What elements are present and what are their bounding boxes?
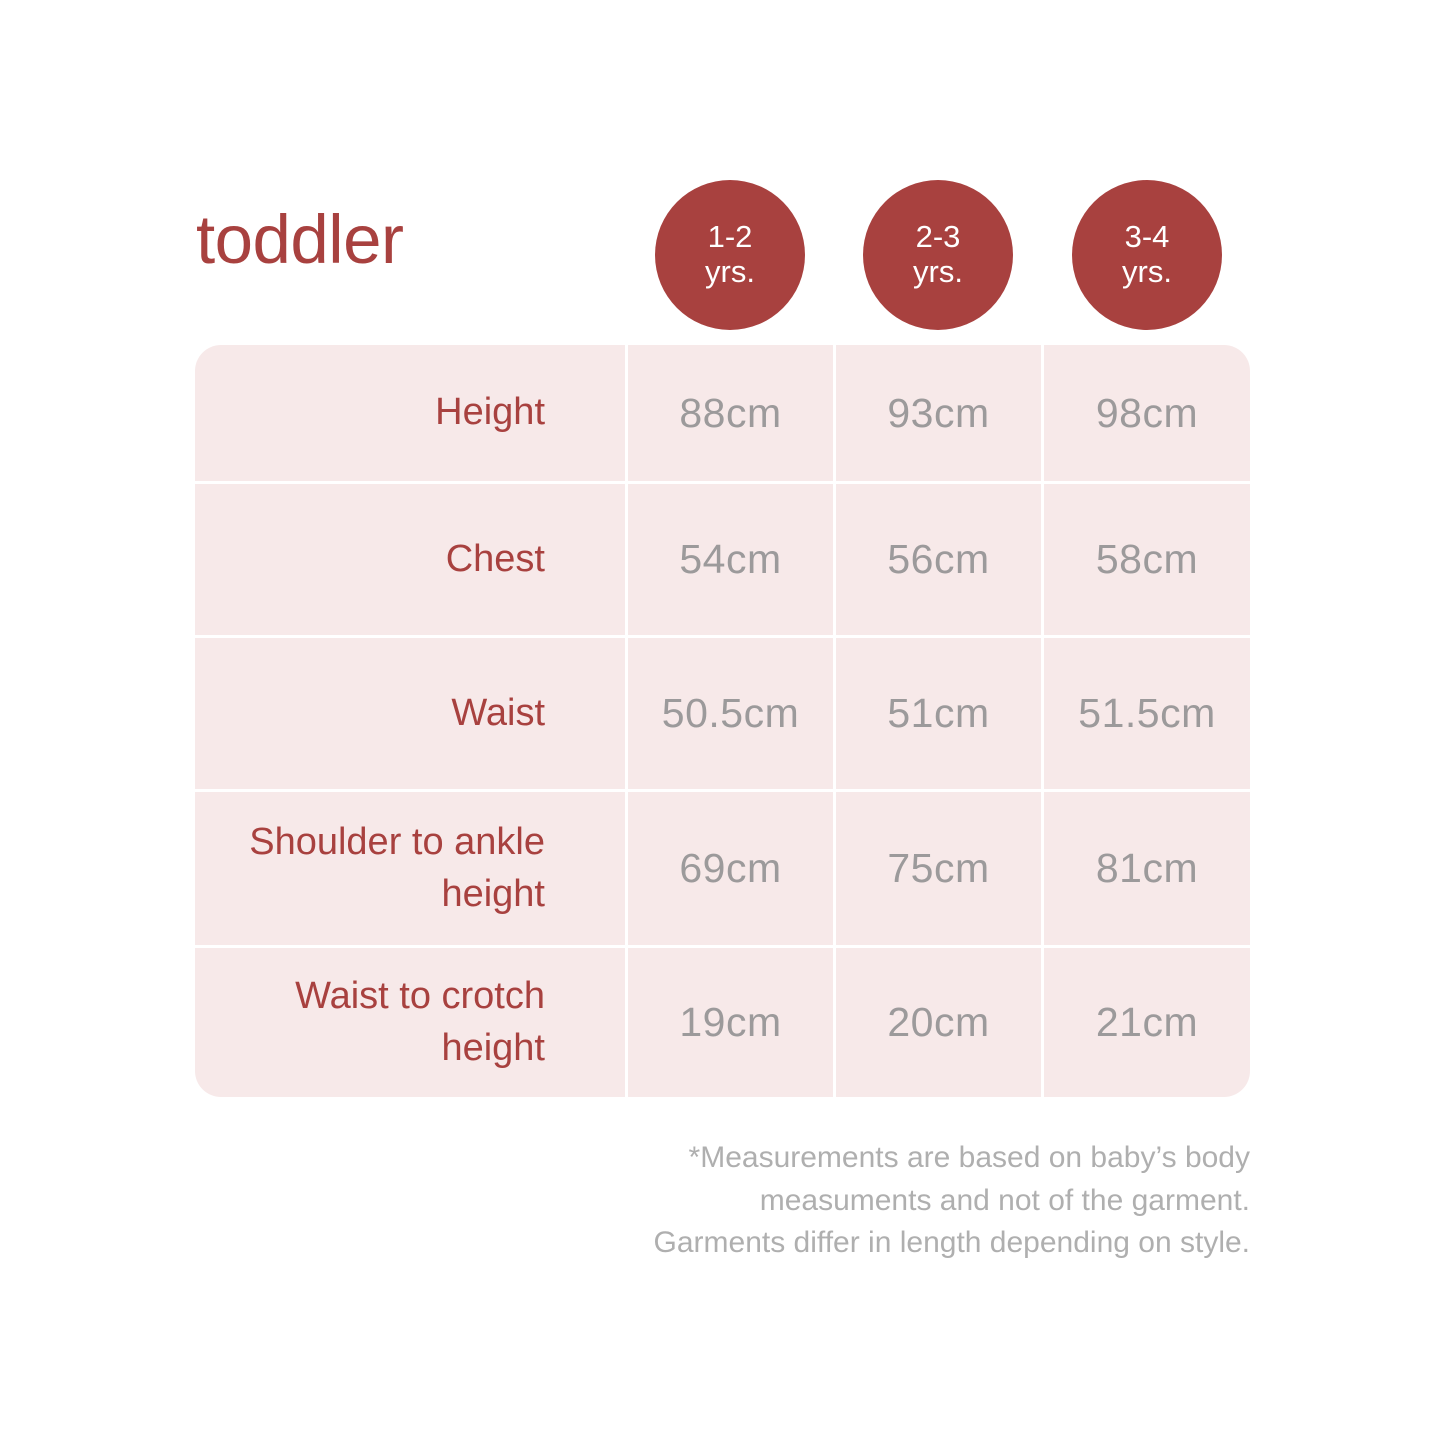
table-row: Height 88cm 93cm 98cm: [195, 345, 1250, 484]
size-chart: toddler 1-2 yrs. 2-3 yrs. 3-4 yrs. Heigh…: [0, 0, 1445, 1444]
table-cell-value: 20cm: [833, 948, 1041, 1097]
table-cell-value: 75cm: [833, 792, 1041, 945]
size-badge-age: 1-2: [708, 220, 753, 255]
table-cell-value: 54cm: [625, 484, 833, 635]
table-cell-value: 19cm: [625, 948, 833, 1097]
table-cell-value: 69cm: [625, 792, 833, 945]
table-cell-value: 21cm: [1041, 948, 1250, 1097]
row-label-waist-to-crotch-height: Waist to crotch height: [195, 948, 625, 1097]
table-row: Shoulder to ankle height 69cm 75cm 81cm: [195, 792, 1250, 948]
size-badge-unit: yrs.: [913, 255, 963, 290]
measurements-table: Height 88cm 93cm 98cm Chest 54cm 56cm 58…: [195, 345, 1250, 1097]
table-row: Waist 50.5cm 51cm 51.5cm: [195, 638, 1250, 792]
footnote-line: *Measurements are based on baby’s body: [450, 1137, 1250, 1180]
row-label-shoulder-to-ankle-height: Shoulder to ankle height: [195, 792, 625, 945]
footnote-line: Garments differ in length depending on s…: [450, 1222, 1250, 1265]
size-badge-age: 3-4: [1125, 220, 1170, 255]
row-label-waist: Waist: [195, 638, 625, 789]
table-cell-value: 56cm: [833, 484, 1041, 635]
table-cell-value: 51.5cm: [1041, 638, 1250, 789]
table-cell-value: 88cm: [625, 345, 833, 481]
table-cell-value: 81cm: [1041, 792, 1250, 945]
size-badge-unit: yrs.: [1122, 255, 1172, 290]
table-cell-value: 51cm: [833, 638, 1041, 789]
size-badge-unit: yrs.: [705, 255, 755, 290]
table-row: Chest 54cm 56cm 58cm: [195, 484, 1250, 638]
footnote-line: measuments and not of the garment.: [450, 1180, 1250, 1223]
table-cell-value: 93cm: [833, 345, 1041, 481]
size-badge-1-2-yrs: 1-2 yrs.: [655, 180, 805, 330]
table-cell-value: 98cm: [1041, 345, 1250, 481]
size-badge-2-3-yrs: 2-3 yrs.: [863, 180, 1013, 330]
row-label-height: Height: [195, 345, 625, 481]
footnote: *Measurements are based on baby’s body m…: [450, 1137, 1250, 1265]
table-cell-value: 58cm: [1041, 484, 1250, 635]
size-badge-3-4-yrs: 3-4 yrs.: [1072, 180, 1222, 330]
size-badge-age: 2-3: [916, 220, 961, 255]
row-label-chest: Chest: [195, 484, 625, 635]
size-badge-group: 1-2 yrs. 2-3 yrs. 3-4 yrs.: [0, 0, 1445, 345]
table-row: Waist to crotch height 19cm 20cm 21cm: [195, 948, 1250, 1097]
table-cell-value: 50.5cm: [625, 638, 833, 789]
